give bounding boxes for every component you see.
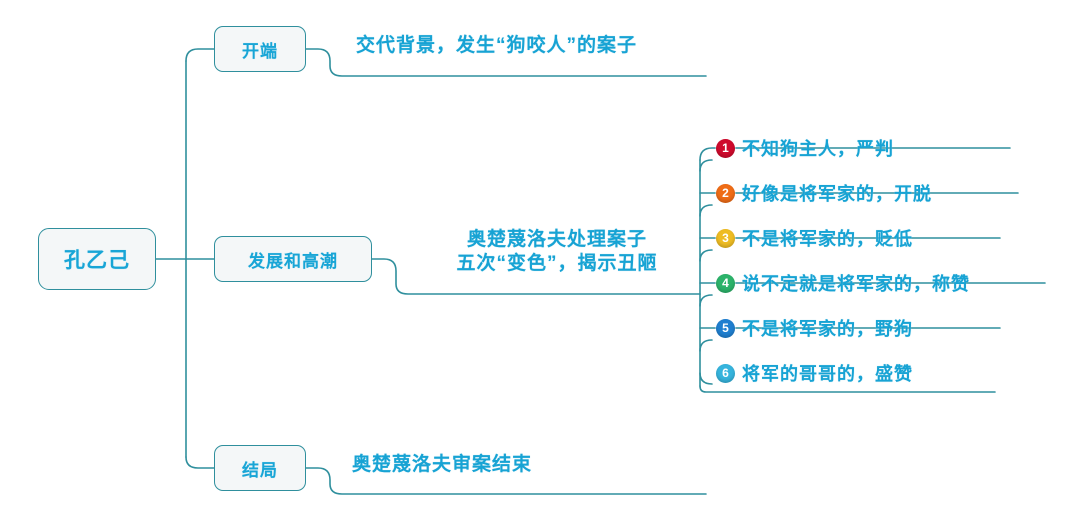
sub-item[interactable]: 5 不是将军家的，野狗: [716, 306, 913, 350]
sub-item-label: 将军的哥哥的，盛赞: [742, 360, 913, 386]
sub-item-label: 好像是将军家的，开脱: [742, 180, 932, 206]
branch-node-jieju-label: 结局: [242, 456, 278, 481]
branch-node-fazhan[interactable]: 发展和高潮: [214, 236, 372, 282]
branch-text-fazhan: 奥楚蔑洛夫处理案子 五次“变色”，揭示丑陋: [432, 228, 682, 277]
root-node-label: 孔乙己: [64, 244, 130, 274]
branch-node-kaiduan[interactable]: 开端: [214, 26, 306, 72]
number-badge-5: 5: [716, 319, 735, 338]
sub-item[interactable]: 3 不是将军家的，贬低: [716, 216, 913, 260]
branch-node-fazhan-label: 发展和高潮: [248, 247, 338, 272]
root-node[interactable]: 孔乙己: [38, 228, 156, 290]
mindmap-canvas: 孔乙己 开端 交代背景，发生“狗咬人”的案子 发展和高潮 奥楚蔑洛夫处理案子 五…: [0, 0, 1080, 517]
sub-item-label: 不是将军家的，野狗: [742, 315, 913, 341]
branch-node-kaiduan-label: 开端: [242, 37, 278, 62]
number-badge-2: 2: [716, 184, 735, 203]
branch-node-jieju[interactable]: 结局: [214, 445, 306, 491]
number-badge-3: 3: [716, 229, 735, 248]
branch-text-kaiduan: 交代背景，发生“狗咬人”的案子: [356, 34, 637, 58]
sub-item[interactable]: 6 将军的哥哥的，盛赞: [716, 351, 913, 395]
number-badge-6: 6: [716, 364, 735, 383]
sub-item[interactable]: 2 好像是将军家的，开脱: [716, 171, 932, 215]
sub-item[interactable]: 4 说不定就是将军家的，称赞: [716, 261, 970, 305]
number-badge-4: 4: [716, 274, 735, 293]
number-badge-1: 1: [716, 139, 735, 158]
sub-item[interactable]: 1 不知狗主人，严判: [716, 126, 894, 170]
sub-item-label: 不是将军家的，贬低: [742, 225, 913, 251]
sub-item-label: 不知狗主人，严判: [742, 135, 894, 161]
branch-text-jieju: 奥楚蔑洛夫审案结束: [352, 453, 532, 477]
sub-item-label: 说不定就是将军家的，称赞: [742, 270, 970, 296]
